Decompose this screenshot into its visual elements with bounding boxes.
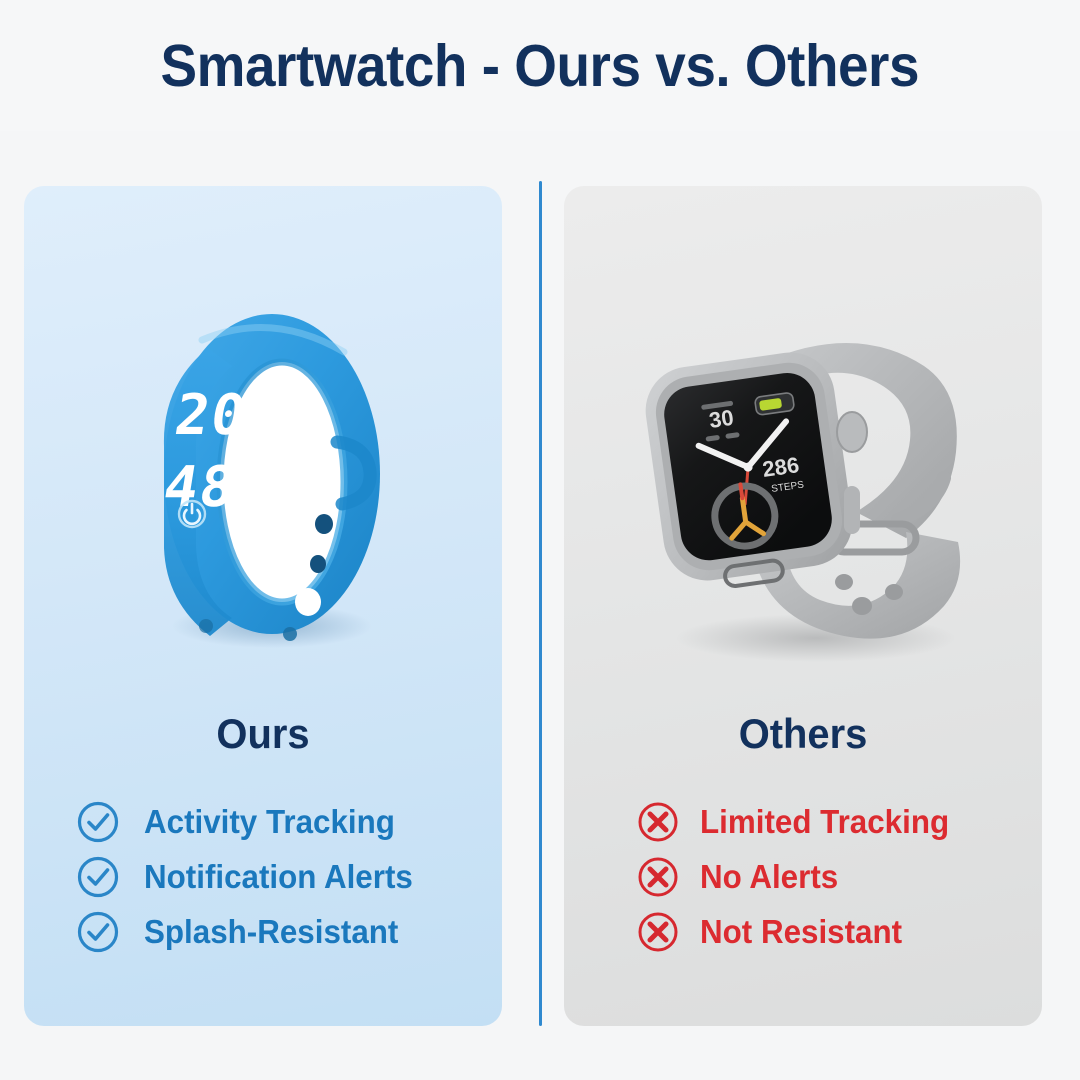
- gray-smartwatch-illustration: 30: [606, 306, 1006, 666]
- band-display-line1: 20: [171, 383, 253, 448]
- check-circle-icon: [76, 855, 120, 899]
- x-circle-icon: [636, 855, 680, 899]
- check-circle-icon: [76, 800, 120, 844]
- feature-row: Not Resistant: [564, 904, 1042, 959]
- watch-face-number: 30: [707, 405, 735, 433]
- panel-ours: 20 48: [24, 186, 502, 1026]
- x-circle-icon: [636, 800, 680, 844]
- feature-row: No Alerts: [564, 849, 1042, 904]
- check-circle-icon: [76, 910, 120, 954]
- feature-label: Activity Tracking: [144, 803, 395, 841]
- feature-label: Splash-Resistant: [144, 913, 398, 951]
- comparison-stage: 20 48: [0, 131, 1080, 1080]
- band-display-line2: 48: [159, 455, 241, 520]
- feature-list-ours: Activity Tracking Notification Alerts Sp…: [24, 794, 502, 959]
- feature-row: Splash-Resistant: [24, 904, 502, 959]
- x-circle-icon: [636, 910, 680, 954]
- feature-row: Limited Tracking: [564, 794, 1042, 849]
- panel-others: 30: [564, 186, 1042, 1026]
- page-title: Smartwatch - Ours vs. Others: [161, 32, 919, 100]
- header-band: Smartwatch - Ours vs. Others: [0, 0, 1080, 132]
- product-image-others: 30: [564, 186, 1042, 706]
- watch-face-steps: 286: [761, 452, 801, 482]
- feature-label: Limited Tracking: [700, 803, 949, 841]
- power-icon: [179, 501, 205, 527]
- panel-divider: [539, 181, 542, 1026]
- feature-list-others: Limited Tracking No Alerts Not Resistant: [564, 794, 1042, 959]
- feature-label: Not Resistant: [700, 913, 902, 951]
- feature-row: Activity Tracking: [24, 794, 502, 849]
- blue-fitness-band-illustration: 20 48: [132, 296, 412, 656]
- feature-row: Notification Alerts: [24, 849, 502, 904]
- feature-label: Notification Alerts: [144, 858, 413, 896]
- product-image-ours: 20 48: [24, 186, 502, 706]
- panel-heading-ours: Ours: [36, 710, 490, 758]
- panel-heading-others: Others: [576, 710, 1030, 758]
- feature-label: No Alerts: [700, 858, 838, 896]
